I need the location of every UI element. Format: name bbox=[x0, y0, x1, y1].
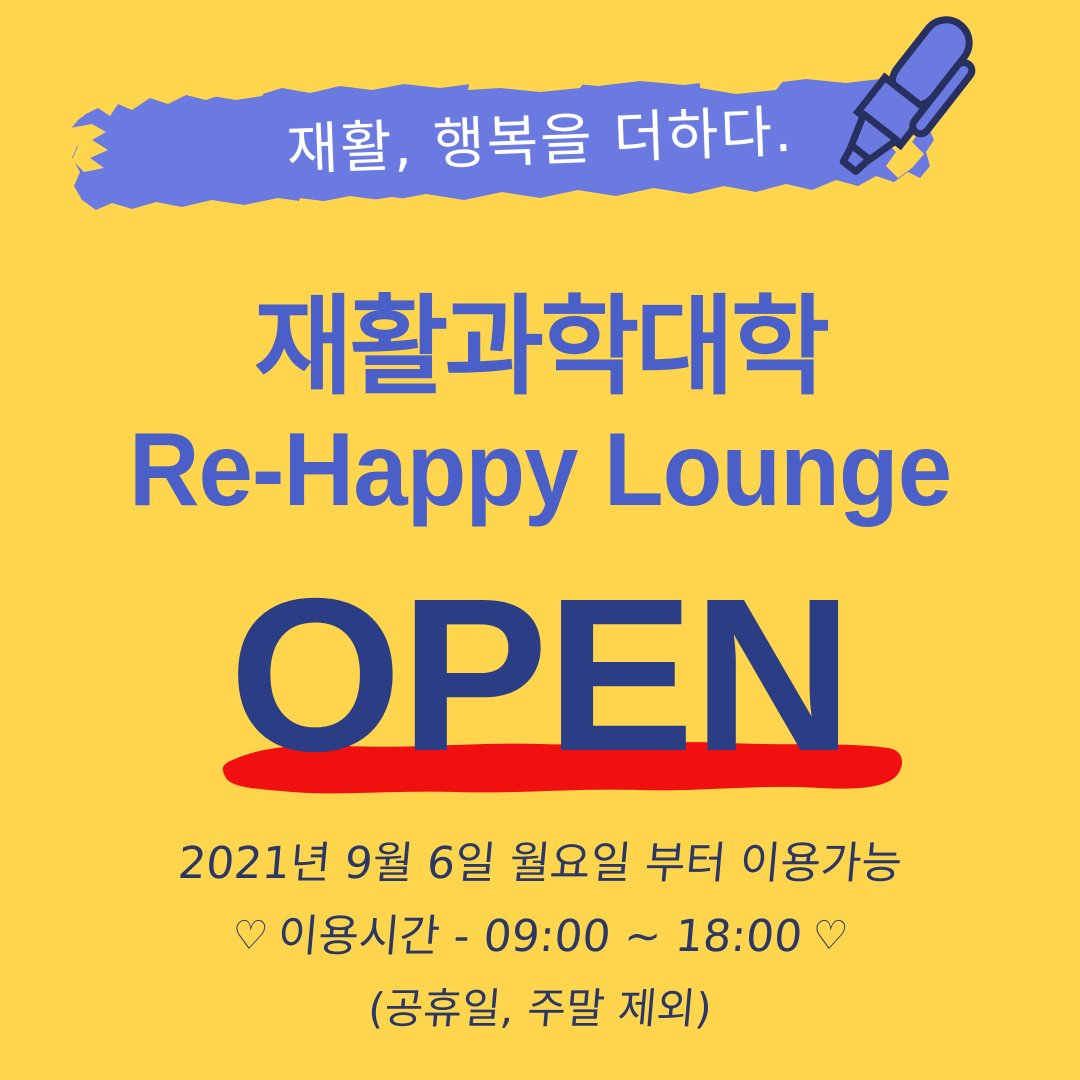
heart-icon-right: ♡ bbox=[800, 913, 860, 959]
heading-block: 재활과학대학 Re-Happy Lounge bbox=[0, 292, 1080, 522]
exclusions-text: (공휴일, 주말 제외) bbox=[0, 973, 1080, 1045]
brush-bottom-texture-2 bbox=[556, 195, 698, 213]
poster-canvas: 재활, 행복을 더하다. 재활과학대학 Re-Happy Lounge OPEN… bbox=[0, 0, 1080, 1080]
footer-info: 2021년 9월 6일 월요일 부터 이용가능 ♡이용시간 - 09:00 ~ … bbox=[0, 828, 1080, 1045]
open-announcement: OPEN bbox=[0, 566, 1080, 816]
opening-hours-text: 이용시간 - 09:00 ~ 18:00 bbox=[276, 911, 805, 962]
availability-date-text: 2021년 9월 6일 월요일 부터 이용가능 bbox=[0, 828, 1080, 900]
page-title-korean: 재활과학대학 bbox=[0, 292, 1080, 404]
open-text: OPEN bbox=[0, 576, 1080, 776]
banner-area: 재활, 행복을 더하다. bbox=[0, 0, 1080, 270]
opening-hours-line: ♡이용시간 - 09:00 ~ 18:00♡ bbox=[0, 900, 1080, 973]
page-title-english: Re-Happy Lounge bbox=[32, 418, 1047, 522]
heart-icon-left: ♡ bbox=[220, 913, 280, 959]
